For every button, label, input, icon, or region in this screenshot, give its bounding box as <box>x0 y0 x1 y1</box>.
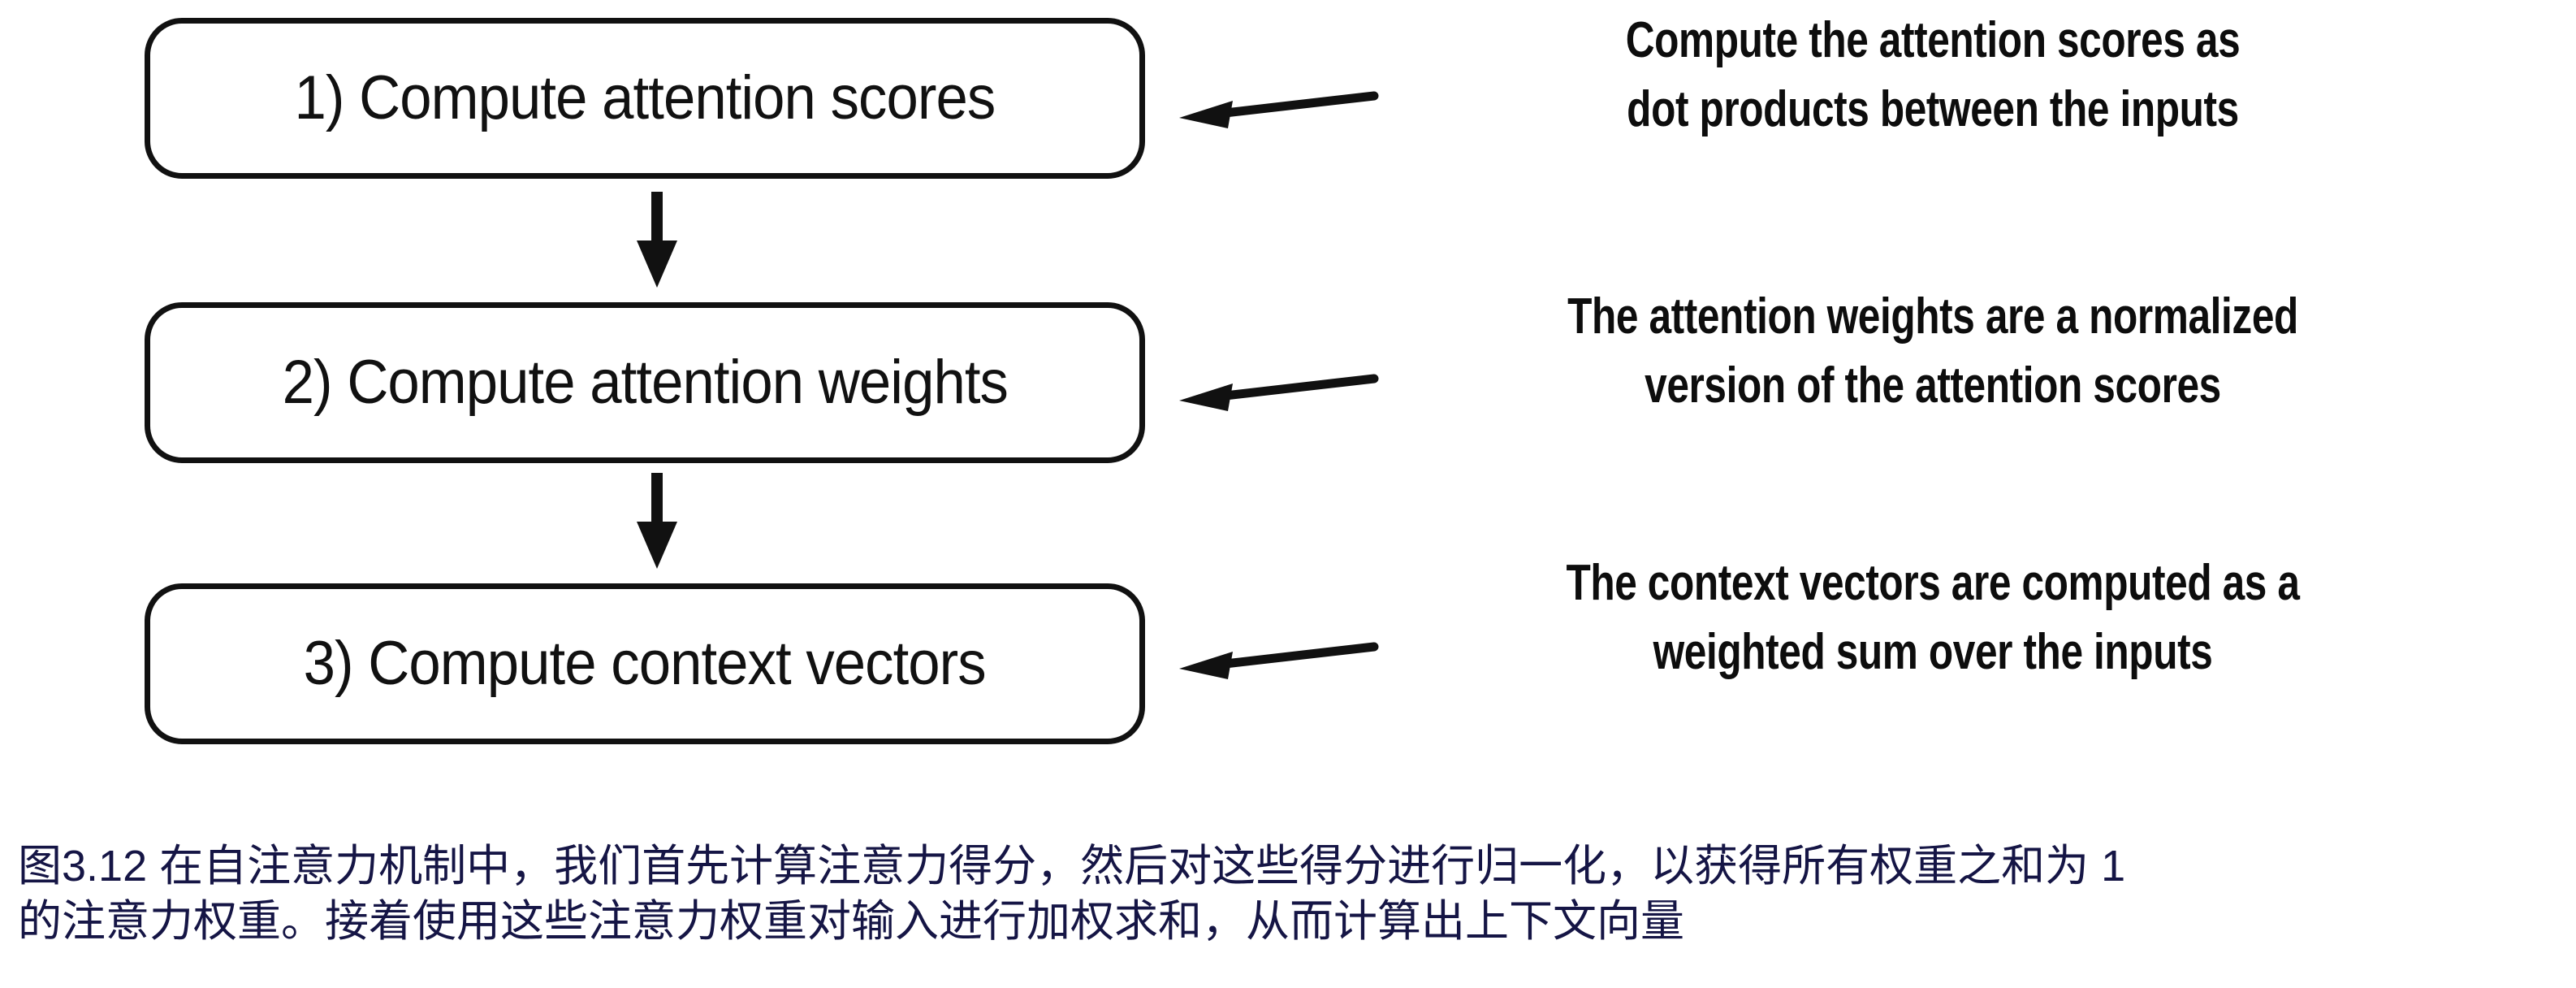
annotation-3-line-1: The context vectors are computed as a <box>1530 557 2336 609</box>
left-arrow-icon <box>1169 81 1382 130</box>
annotation-2: The attention weights are a normalized v… <box>1429 291 2436 411</box>
figure-caption: 图3.12 在自注意力机制中，我们首先计算注意力得分，然后对这些得分进行归一化，… <box>18 838 2560 949</box>
caption-line-1: 图3.12 在自注意力机制中，我们首先计算注意力得分，然后对这些得分进行归一化，… <box>18 838 2560 894</box>
annotation-3: The context vectors are computed as a we… <box>1429 557 2436 678</box>
left-arrow-icon <box>1169 632 1382 681</box>
step-box-1: 1) Compute attention scores <box>145 18 1145 179</box>
annotation-1-line-1: Compute the attention scores as <box>1530 15 2336 66</box>
step-box-2: 2) Compute attention weights <box>145 302 1145 463</box>
left-arrow-icon <box>1169 364 1382 413</box>
down-arrow-icon <box>635 473 679 570</box>
annotation-1-line-2: dot products between the inputs <box>1530 84 2336 135</box>
down-arrow-icon <box>635 192 679 289</box>
attention-flow-diagram: 1) Compute attention scores 2) Compute a… <box>0 0 2576 780</box>
annotation-2-line-1: The attention weights are a normalized <box>1530 291 2336 342</box>
step-box-3: 3) Compute context vectors <box>145 583 1145 744</box>
step-3-label: 3) Compute context vectors <box>304 633 986 695</box>
step-2-label: 2) Compute attention weights <box>282 352 1007 414</box>
figure-canvas: 1) Compute attention scores 2) Compute a… <box>0 0 2576 988</box>
caption-line-2: 的注意力权重。接着使用这些注意力权重对输入进行加权求和，从而计算出上下文向量 <box>18 894 2560 949</box>
annotation-1: Compute the attention scores as dot prod… <box>1429 15 2436 135</box>
step-1-label: 1) Compute attention scores <box>295 67 996 129</box>
annotation-2-line-2: version of the attention scores <box>1530 360 2336 411</box>
annotation-3-line-2: weighted sum over the inputs <box>1530 626 2336 678</box>
